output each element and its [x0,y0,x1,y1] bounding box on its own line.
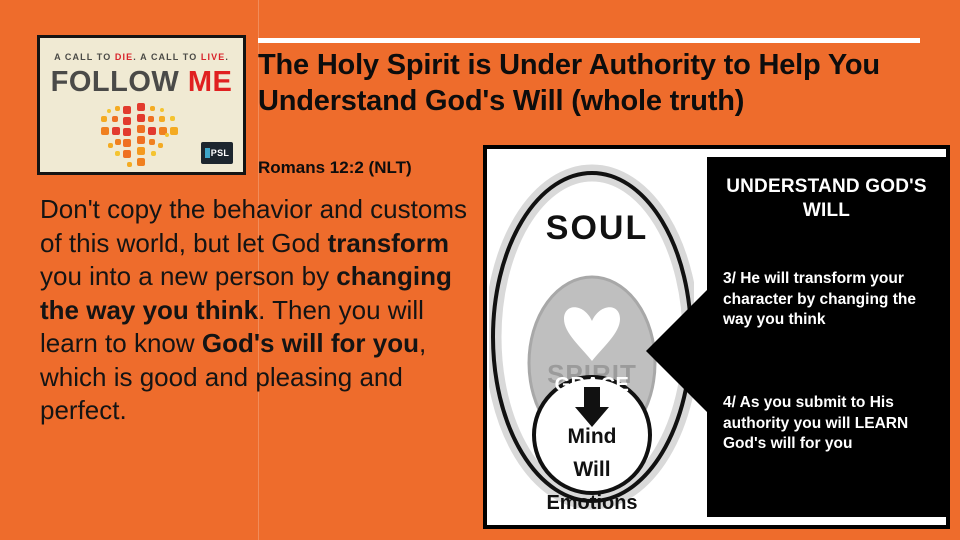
title-divider-rule [258,38,920,43]
book-cover-tagline: A CALL TO DIE. A CALL TO LIVE. [40,52,243,62]
callout-heading: UNDERSTAND GOD'S WILL [707,175,946,223]
slide-canvas: A CALL TO DIE. A CALL TO LIVE. FOLLOW ME [0,0,960,540]
scripture-body-text: Don't copy the behavior and customs of t… [40,193,485,428]
scripture-segment: God's will for you [202,328,419,358]
callout-point-3: 3/ He will transform your character by c… [723,269,935,331]
scripture-segment: you into a new person by [40,261,336,291]
callout-box: UNDERSTAND GOD'S WILL 3/ He will transfo… [707,157,946,517]
book-title-me: ME [188,66,233,98]
callout-pointer-arrow [646,289,708,413]
scripture-segment: transform [328,228,449,258]
psl-logo-text: PSL [211,148,229,158]
diagram-panel: SPIRIT GRACE Mind Will Emotions SOUL UND… [483,145,950,529]
svg-text:Will: Will [573,458,610,481]
svg-text:Mind: Mind [568,425,617,448]
book-tagline-mid: . A CALL TO [133,52,201,62]
book-tagline-post: . [225,52,229,62]
callout-point-4: 4/ As you submit to His authority you wi… [723,393,935,455]
svg-text:SOUL: SOUL [546,209,648,247]
book-cover-title: FOLLOW ME [40,66,243,99]
svg-text:Emotions: Emotions [546,492,637,514]
psl-logo: PSL [201,142,233,164]
page-title: The Holy Spirit is Under Authority to He… [258,48,936,119]
book-title-follow: FOLLOW [51,66,188,98]
book-tagline-pre: A CALL TO [54,52,115,62]
psl-tick-icon [205,148,210,158]
book-tagline-live: LIVE [201,52,225,62]
book-tagline-die: DIE [115,52,133,62]
scripture-reference: Romans 12:2 (NLT) [258,158,412,178]
book-cover-image: A CALL TO DIE. A CALL TO LIVE. FOLLOW ME [37,35,246,175]
